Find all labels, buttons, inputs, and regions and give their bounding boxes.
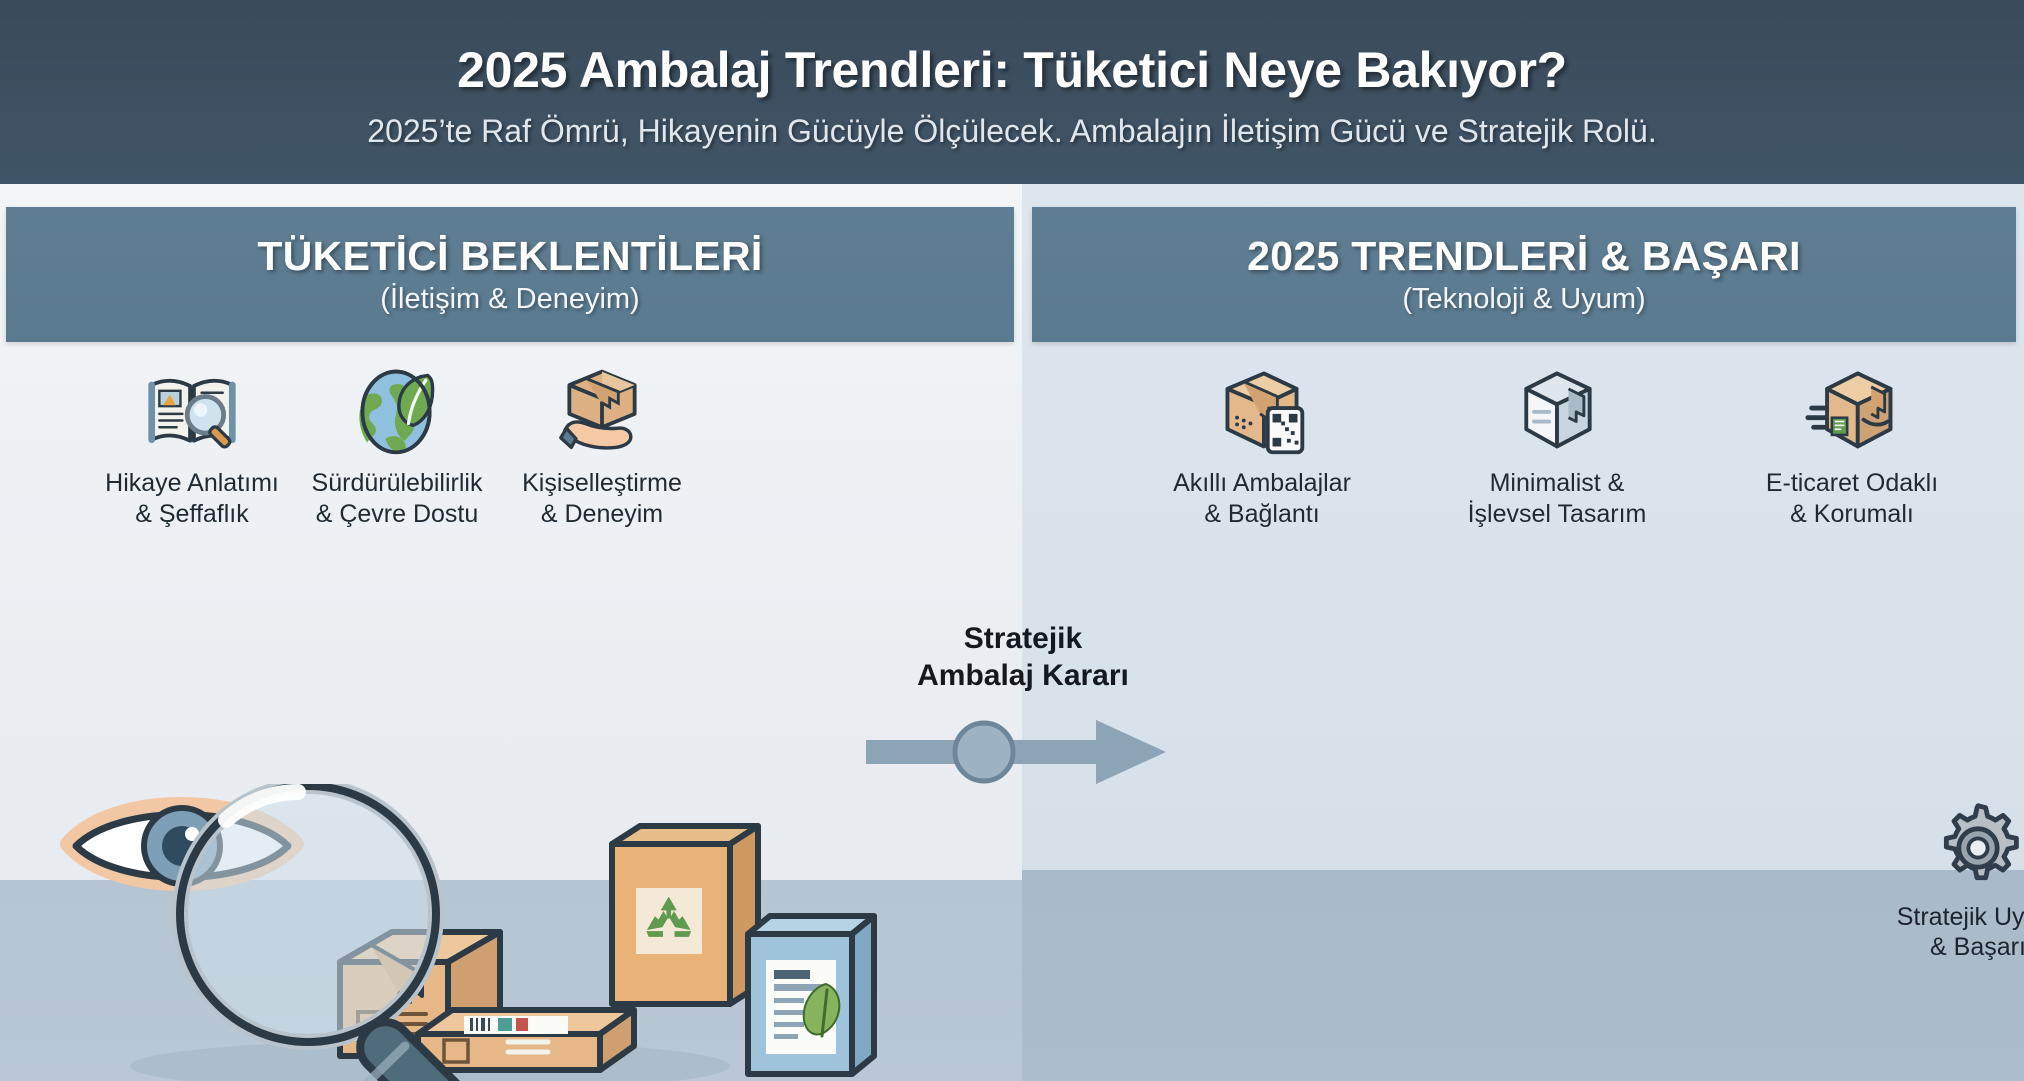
globe-leaf-icon [349,362,445,458]
flat-parcel [418,1010,634,1070]
feature-personalisation: Kişiselleştirme & Deneyim [502,362,702,529]
strategic-decision-label: Stratejik Ambalaj Kararı [858,620,1188,694]
white-minimal-box-icon [1509,362,1605,458]
right-panel-titlebar: 2025 TRENDLERİ & BAŞARI (Teknoloji & Uyu… [1032,207,2016,342]
right-panel-title: 2025 TRENDLERİ & BAŞARI [1247,233,1801,280]
gear-icon [1930,800,2024,896]
infographic-canvas: 2025 Ambalaj Trendleri: Tüketici Neye Ba… [0,0,2024,1081]
open-book-magnifier-icon [144,362,240,458]
feature-minimalist-design-label: Minimalist & İşlevsel Tasarım [1468,468,1647,529]
feature-ecommerce-label: E-ticaret Odaklı & Korumalı [1766,468,1938,529]
leaf-carton [748,916,874,1074]
feature-smart-packaging: Akıllı Ambalajlar & Bağlantı [1162,362,1362,529]
left-panel-titlebar: TÜKETİCİ BEKLENTİLERİ (İletişim & Deneyi… [6,207,1014,342]
feature-smart-packaging-label: Akıllı Ambalajlar & Bağlantı [1173,468,1351,529]
consumer-inspection-illustration [40,784,940,1081]
strategic-alignment-badge: Stratejik Uyum & Başarı [1848,800,2024,962]
left-panel-subtitle: (İletişim & Deneyim) [380,283,639,316]
feature-ecommerce: E-ticaret Odaklı & Korumalı [1752,362,1952,529]
feature-storytelling-label: Hikaye Anlatımı & Şeffaflık [105,468,279,529]
feature-personalisation-label: Kişiselleştirme & Deneyim [522,468,682,529]
left-panel-title: TÜKETİCİ BEKLENTİLERİ [257,233,762,280]
recycle-box [612,826,758,1004]
page-subtitle: 2025’te Raf Ömrü, Hikayenin Gücüyle Ölçü… [367,113,1656,150]
strategic-decision-arrow-group: Stratejik Ambalaj Kararı [858,620,1188,790]
feature-sustainability: Sürdürülebilirlik & Çevre Dostu [297,362,497,529]
header-band: 2025 Ambalaj Trendleri: Tüketici Neye Ba… [0,0,2024,184]
left-feature-row: Hikaye Anlatımı & Şeffaflık Sürdürülebil… [92,362,702,529]
feature-sustainability-label: Sürdürülebilirlik & Çevre Dostu [312,468,483,529]
strategic-alignment-label: Stratejik Uyum & Başarı [1897,902,2024,962]
box-qr-code-icon [1214,362,1310,458]
feature-storytelling: Hikaye Anlatımı & Şeffaflık [92,362,292,529]
hand-holding-box-icon [554,362,650,458]
right-panel-subtitle: (Teknoloji & Uyum) [1402,283,1645,316]
page-title: 2025 Ambalaj Trendleri: Tüketici Neye Ba… [457,41,1567,99]
fast-shipping-box-icon [1804,362,1900,458]
feature-minimalist-design: Minimalist & İşlevsel Tasarım [1457,362,1657,529]
right-arrow-with-node [866,716,1176,788]
right-feature-row: Akıllı Ambalajlar & Bağlantı Minimalist … [1162,362,1952,529]
